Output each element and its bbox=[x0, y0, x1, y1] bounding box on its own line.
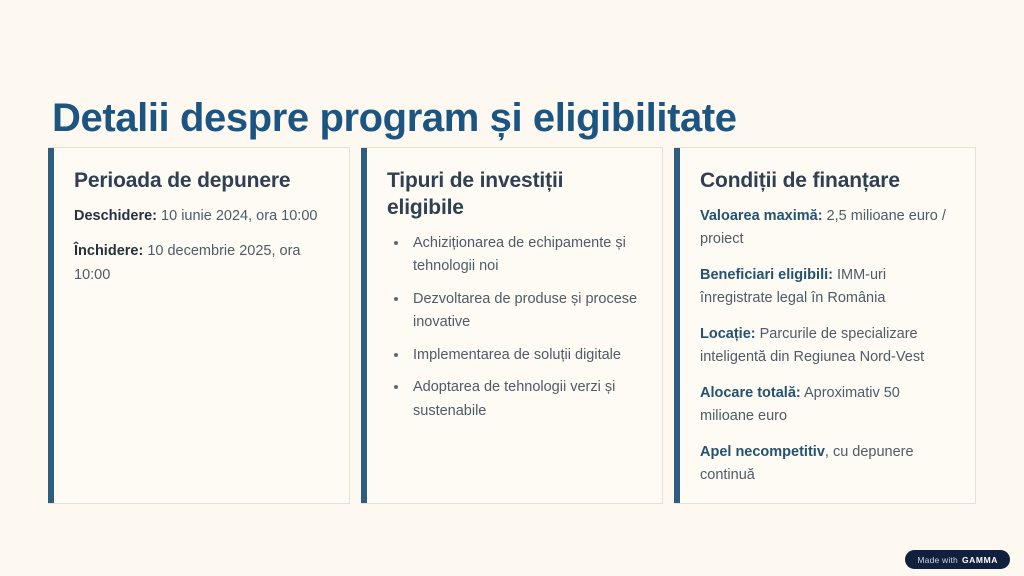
bullet-dot-icon bbox=[394, 241, 398, 245]
card-item-label: Beneficiari eligibili: bbox=[700, 267, 833, 283]
slide-root: Detalii despre program și eligibilitate … bbox=[0, 0, 1024, 576]
card-heading: Tipuri de investiții eligibile bbox=[387, 168, 640, 222]
list-item-text: Achiziționarea de echipamente și tehnolo… bbox=[413, 235, 626, 274]
card-item: Valoarea maximă: 2,5 milioane euro / pro… bbox=[700, 205, 953, 252]
bullet-list: Achiziționarea de echipamente și tehnolo… bbox=[387, 232, 640, 423]
card-perioada-de-depunere: Perioada de depunere Deschidere: 10 iuni… bbox=[48, 147, 350, 504]
card-heading: Condiții de finanțare bbox=[700, 168, 953, 195]
card-item-label: Valoarea maximă: bbox=[700, 208, 823, 224]
card-accent-bar bbox=[361, 148, 367, 503]
list-item-text: Dezvoltarea de produse și procese inovat… bbox=[413, 291, 637, 330]
card-item-label: Închidere: bbox=[74, 243, 143, 259]
card-tipuri-de-investitii-eligibile: Tipuri de investiții eligibile Achizițio… bbox=[361, 147, 663, 504]
card-item-text: 10 iunie 2024, ora 10:00 bbox=[157, 208, 317, 224]
list-item: Achiziționarea de echipamente și tehnolo… bbox=[387, 232, 640, 279]
card-item-label: Locație: bbox=[700, 326, 756, 342]
list-item-text: Implementarea de soluții digitale bbox=[413, 347, 621, 363]
list-item: Adoptarea de tehnologii verzi și sustena… bbox=[387, 376, 640, 423]
card-item: Închidere: 10 decembrie 2025, ora 10:00 bbox=[74, 240, 327, 287]
card-item: Beneficiari eligibili: IMM-uri înregistr… bbox=[700, 264, 953, 311]
card-item: Locație: Parcurile de specializare intel… bbox=[700, 323, 953, 370]
card-conditii-de-finantare: Condiții de finanțare Valoarea maximă: 2… bbox=[674, 147, 976, 504]
card-item-label: Alocare totală: bbox=[700, 385, 801, 401]
bullet-dot-icon bbox=[394, 353, 398, 357]
list-item: Dezvoltarea de produse și procese inovat… bbox=[387, 288, 640, 335]
page-title: Detalii despre program și eligibilitate bbox=[52, 95, 952, 141]
card-accent-bar bbox=[674, 148, 680, 503]
card-item-label: Deschidere: bbox=[74, 208, 157, 224]
card-accent-bar bbox=[48, 148, 54, 503]
card-heading: Perioada de depunere bbox=[74, 168, 327, 195]
badge-brand-label: GAMMA bbox=[962, 555, 998, 565]
list-item-text: Adoptarea de tehnologii verzi și sustena… bbox=[413, 379, 615, 418]
card-item: Apel necompetitiv, cu depunere continuă bbox=[700, 441, 953, 488]
card-item-label: Apel necompetitiv bbox=[700, 444, 825, 460]
list-item: Implementarea de soluții digitale bbox=[387, 344, 640, 367]
bullet-dot-icon bbox=[394, 385, 398, 389]
bullet-dot-icon bbox=[394, 297, 398, 301]
made-with-gamma-badge[interactable]: Made with GAMMA bbox=[905, 550, 1010, 569]
card-item: Alocare totală: Aproximativ 50 milioane … bbox=[700, 382, 953, 429]
card-row: Perioada de depunere Deschidere: 10 iuni… bbox=[48, 147, 976, 504]
card-item: Deschidere: 10 iunie 2024, ora 10:00 bbox=[74, 205, 327, 228]
badge-prefix-label: Made with bbox=[917, 555, 958, 565]
